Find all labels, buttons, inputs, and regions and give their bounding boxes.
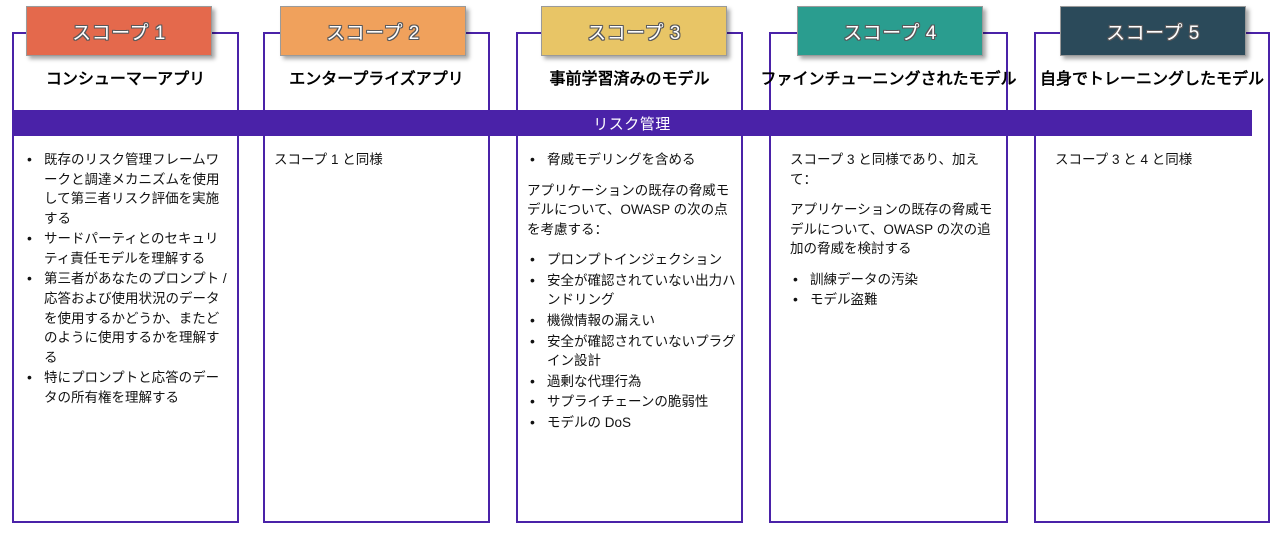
list-item: サードパーティとのセキュリティ責任モデルを理解する bbox=[24, 229, 231, 268]
bullet-list: 訓練データの汚染 モデル盗難 bbox=[790, 270, 995, 310]
scope-chip-label-1: スコープ 1 bbox=[72, 18, 166, 45]
body-paragraph: スコープ 3 と同様であり、加えて： bbox=[790, 150, 995, 189]
scope-chip-1: スコープ 1 bbox=[26, 6, 212, 56]
body-paragraph: アプリケーションの既存の脅威モデルについて、OWASP の次の点を考慮する： bbox=[527, 181, 736, 240]
risk-management-band: リスク管理 bbox=[12, 110, 1252, 136]
scope-chip-label-3: スコープ 3 bbox=[587, 18, 681, 45]
column-body-4: スコープ 3 と同様であり、加えて： アプリケーションの既存の脅威モデルについて… bbox=[790, 150, 995, 311]
column-scope-2 bbox=[263, 32, 490, 523]
column-subtitle-4: ファインチューニングされたモデル bbox=[769, 64, 1008, 90]
column-subtitle-5: 自身でトレーニングしたモデル bbox=[1034, 64, 1270, 90]
scope-chip-label-4: スコープ 4 bbox=[843, 18, 937, 45]
column-scope-5 bbox=[1034, 32, 1270, 523]
bullet-list: 脅威モデリングを含める bbox=[527, 150, 736, 170]
column-body-2: スコープ 1 と同様 bbox=[274, 150, 481, 181]
scope-matrix-diagram: スコープ 1 コンシューマーアプリ 既存のリスク管理フレームワークと調達メカニズ… bbox=[0, 0, 1281, 534]
list-item: 安全が確認されていない出力ハンドリング bbox=[527, 271, 736, 310]
scope-chip-3: スコープ 3 bbox=[541, 6, 727, 56]
scope-chip-2: スコープ 2 bbox=[280, 6, 466, 56]
list-item: 既存のリスク管理フレームワークと調達メカニズムを使用して第三者リスク評価を実施す… bbox=[24, 150, 231, 228]
scope-chip-label-2: スコープ 2 bbox=[326, 18, 420, 45]
list-item: 脅威モデリングを含める bbox=[527, 150, 736, 170]
scope-chip-label-5: スコープ 5 bbox=[1106, 18, 1200, 45]
bullet-list: プロンプトインジェクション 安全が確認されていない出力ハンドリング 機微情報の漏… bbox=[527, 250, 736, 432]
list-item: 安全が確認されていないプラグイン設計 bbox=[527, 332, 736, 371]
column-body-3: 脅威モデリングを含める アプリケーションの既存の脅威モデルについて、OWASP … bbox=[527, 150, 736, 433]
list-item: プロンプトインジェクション bbox=[527, 250, 736, 270]
list-item: 第三者があなたのプロンプト / 応答および使用状況のデータを使用するかどうか、ま… bbox=[24, 269, 231, 367]
list-item: モデル盗難 bbox=[790, 290, 995, 310]
column-body-5: スコープ 3 と 4 と同様 bbox=[1055, 150, 1260, 181]
body-paragraph: アプリケーションの既存の脅威モデルについて、OWASP の次の追加の脅威を検討す… bbox=[790, 200, 995, 259]
scope-chip-5: スコープ 5 bbox=[1060, 6, 1246, 56]
scope-chip-4: スコープ 4 bbox=[797, 6, 983, 56]
body-paragraph: スコープ 3 と 4 と同様 bbox=[1055, 150, 1260, 170]
column-body-1: 既存のリスク管理フレームワークと調達メカニズムを使用して第三者リスク評価を実施す… bbox=[24, 150, 231, 408]
list-item: モデルの DoS bbox=[527, 413, 736, 433]
body-paragraph: スコープ 1 と同様 bbox=[274, 150, 481, 170]
column-subtitle-2: エンタープライズアプリ bbox=[263, 64, 490, 90]
bullet-list: 既存のリスク管理フレームワークと調達メカニズムを使用して第三者リスク評価を実施す… bbox=[24, 150, 231, 407]
list-item: 特にプロンプトと応答のデータの所有権を理解する bbox=[24, 368, 231, 407]
list-item: 過剰な代理行為 bbox=[527, 372, 736, 392]
column-subtitle-3: 事前学習済みのモデル bbox=[516, 64, 743, 90]
list-item: 訓練データの汚染 bbox=[790, 270, 995, 290]
column-subtitle-1: コンシューマーアプリ bbox=[12, 64, 239, 90]
risk-management-label: リスク管理 bbox=[593, 113, 671, 134]
list-item: サプライチェーンの脆弱性 bbox=[527, 392, 736, 412]
list-item: 機微情報の漏えい bbox=[527, 311, 736, 331]
